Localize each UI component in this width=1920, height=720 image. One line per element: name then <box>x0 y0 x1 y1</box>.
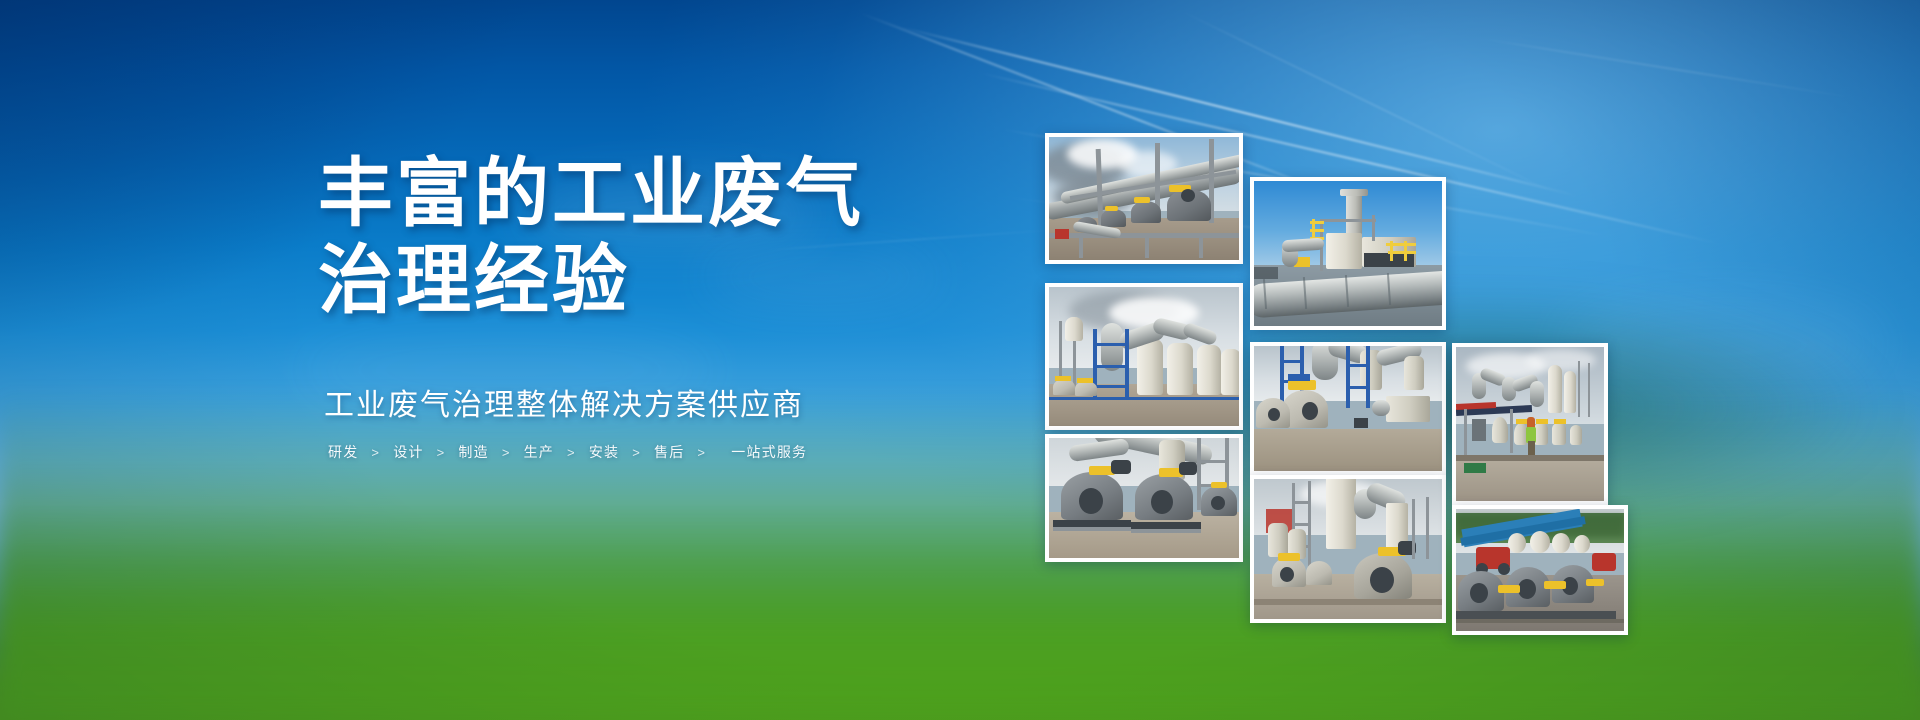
photo-6-image <box>1254 479 1442 619</box>
photo-collage <box>0 0 1920 720</box>
process-step-production: 生产 <box>524 443 554 463</box>
chevron-right-icon: > <box>632 444 641 462</box>
photo-4-image <box>1254 181 1442 326</box>
headline-line-1: 丰富的工业废气 <box>318 151 864 235</box>
hero-subtitle: 工业废气治理整体解决方案供应商 <box>324 386 958 425</box>
process-step-onestop: 一站式服务 <box>731 443 807 463</box>
process-step-manufacture: 制造 <box>458 443 488 463</box>
chevron-right-icon: > <box>697 444 706 462</box>
photo-1-image <box>1049 137 1239 260</box>
process-step-installation: 安装 <box>589 443 619 463</box>
photo-7-image <box>1456 347 1604 501</box>
chevron-right-icon: > <box>371 444 380 462</box>
collage-photo <box>1045 283 1243 430</box>
photo-8-image <box>1456 509 1624 631</box>
process-step-design: 设计 <box>393 443 423 463</box>
collage-photo <box>1452 505 1628 635</box>
process-breadcrumb: 研发 > 设计 > 制造 > 生产 > 安装 > 售后 > 一站式服务 <box>326 443 958 463</box>
collage-photo <box>1250 177 1446 330</box>
collage-photo <box>1452 343 1608 505</box>
photo-5-image <box>1254 346 1442 471</box>
collage-photo <box>1250 342 1446 475</box>
photo-2-image <box>1049 287 1239 426</box>
chevron-right-icon: > <box>567 444 576 462</box>
page-title: 丰富的工业废气 治理经验 <box>318 150 958 324</box>
chevron-right-icon: > <box>502 444 511 462</box>
headline-line-2: 治理经验 <box>318 237 958 324</box>
process-step-rd: 研发 <box>328 443 358 463</box>
chevron-right-icon: > <box>437 444 446 462</box>
collage-photo <box>1045 434 1243 562</box>
hero-banner: 丰富的工业废气 治理经验 工业废气治理整体解决方案供应商 研发 > 设计 > 制… <box>0 0 1920 720</box>
process-step-aftersales: 售后 <box>654 443 684 463</box>
collage-photo <box>1045 133 1243 264</box>
photo-3-image <box>1049 438 1239 558</box>
hero-text-block: 丰富的工业废气 治理经验 工业废气治理整体解决方案供应商 研发 > 设计 > 制… <box>318 150 958 463</box>
collage-photo <box>1250 475 1446 623</box>
